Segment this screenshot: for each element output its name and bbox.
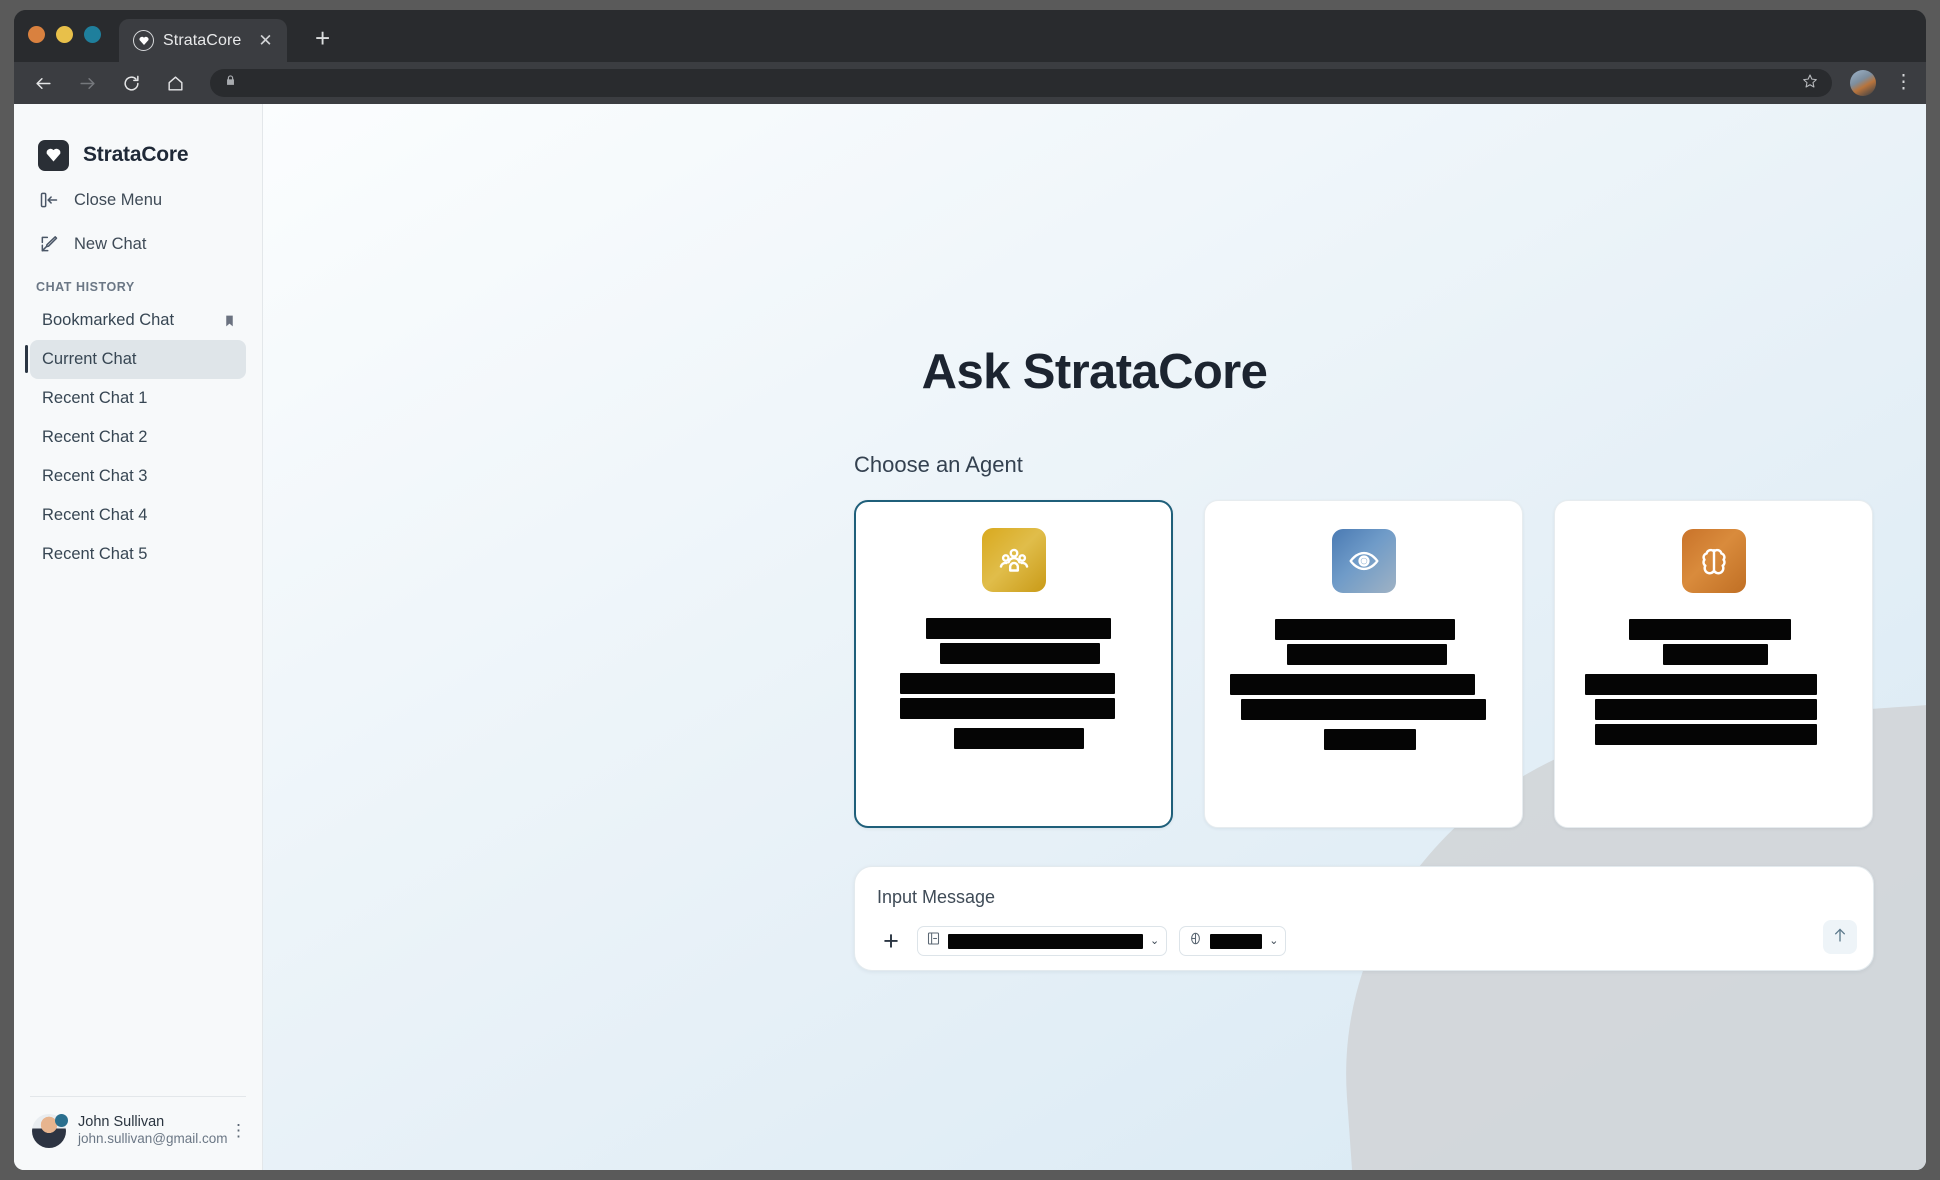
message-composer[interactable]: Input Message + ⌄ <box>854 866 1874 971</box>
source-selector-dropdown[interactable]: ⌄ <box>917 926 1167 956</box>
sidebar: StrataCore Close Menu New Chat CHAT HIST… <box>14 104 263 1170</box>
redacted-line <box>926 618 1111 639</box>
chat-item-label: Recent Chat 3 <box>42 467 147 486</box>
chat-history-heading: CHAT HISTORY <box>14 266 262 301</box>
chat-item-label: Recent Chat 1 <box>42 389 147 408</box>
chat-item-label: Bookmarked Chat <box>42 311 174 330</box>
chevron-down-icon[interactable]: ⌄ <box>1269 936 1278 947</box>
chat-item-recent-4[interactable]: Recent Chat 4 <box>30 496 246 535</box>
heart-logo-icon <box>38 140 69 171</box>
agent-card-list <box>854 500 1874 828</box>
page-title: Ask StrataCore <box>263 104 1926 400</box>
redacted-line <box>1230 674 1475 695</box>
user-name: John Sullivan <box>78 1113 218 1131</box>
composer-toolbar: + ⌄ ⌄ <box>877 926 1851 956</box>
panel-collapse-icon <box>38 189 60 211</box>
redacted-line <box>900 673 1115 694</box>
redacted-line <box>1241 699 1486 720</box>
agent-text-redacted <box>1205 619 1522 750</box>
choose-agent-label: Choose an Agent <box>854 452 1874 478</box>
brand-name: StrataCore <box>83 143 188 167</box>
user-profile-block[interactable]: John Sullivan john.sullivan@gmail.com ⋮ <box>30 1096 246 1170</box>
address-bar[interactable] <box>210 69 1832 97</box>
user-email: john.sullivan@gmail.com <box>78 1131 218 1148</box>
chat-item-recent-2[interactable]: Recent Chat 2 <box>30 418 246 457</box>
chat-item-recent-5[interactable]: Recent Chat 5 <box>30 535 246 574</box>
browser-tab[interactable]: StrataCore ✕ <box>119 19 287 62</box>
add-attachment-button[interactable]: + <box>877 928 905 955</box>
redacted-line <box>1324 729 1416 750</box>
agent-chooser: Choose an Agent <box>854 400 1874 828</box>
browser-toolbar: ⋮ <box>14 62 1926 104</box>
browser-tab-title: StrataCore <box>163 32 241 50</box>
page-content: StrataCore Close Menu New Chat CHAT HIST… <box>14 104 1926 1170</box>
user-menu-icon[interactable]: ⋮ <box>230 1126 244 1135</box>
main-area: Ask StrataCore Choose an Agent <box>263 104 1926 1170</box>
home-icon[interactable] <box>162 70 188 96</box>
chat-item-label: Recent Chat 5 <box>42 545 147 564</box>
reload-icon[interactable] <box>118 70 144 96</box>
book-icon <box>926 931 941 951</box>
redacted-value <box>948 934 1143 949</box>
brand: StrataCore <box>14 104 262 178</box>
users-group-icon <box>982 528 1046 592</box>
agent-text-redacted <box>1555 619 1872 745</box>
close-menu-button[interactable]: Close Menu <box>14 178 262 222</box>
redacted-line <box>1663 644 1768 665</box>
new-chat-label: New Chat <box>74 235 146 254</box>
window-traffic-lights <box>28 10 101 62</box>
brain-icon <box>1682 529 1746 593</box>
bookmark-icon[interactable] <box>223 313 236 329</box>
new-tab-button[interactable]: + <box>309 24 337 52</box>
avatar <box>32 1114 66 1148</box>
edit-square-icon <box>38 233 60 255</box>
forward-icon[interactable] <box>74 70 100 96</box>
new-chat-button[interactable]: New Chat <box>14 222 262 266</box>
chat-item-bookmarked[interactable]: Bookmarked Chat <box>30 301 246 340</box>
redacted-line <box>1595 724 1817 745</box>
redacted-value <box>1210 934 1262 949</box>
redacted-line <box>1287 644 1447 665</box>
chat-item-recent-1[interactable]: Recent Chat 1 <box>30 379 246 418</box>
browser-profile-avatar[interactable] <box>1850 70 1876 96</box>
browser-menu-icon[interactable]: ⋮ <box>1894 77 1910 88</box>
heart-circle-icon <box>133 30 154 51</box>
model-selector-dropdown[interactable]: ⌄ <box>1179 926 1286 956</box>
window-maximize-button[interactable] <box>84 26 101 43</box>
bookmark-star-icon[interactable] <box>1802 73 1818 94</box>
agent-card-vision[interactable] <box>1204 500 1523 828</box>
redacted-line <box>940 643 1100 664</box>
send-button[interactable] <box>1823 920 1857 954</box>
window-close-button[interactable] <box>28 26 45 43</box>
chat-item-recent-3[interactable]: Recent Chat 3 <box>30 457 246 496</box>
browser-tab-strip: StrataCore ✕ + <box>14 10 1926 62</box>
chat-item-label: Recent Chat 2 <box>42 428 147 447</box>
agent-card-users[interactable] <box>854 500 1173 828</box>
chat-item-label: Current Chat <box>42 350 136 369</box>
close-icon[interactable]: ✕ <box>258 32 272 49</box>
agent-text-redacted <box>856 618 1171 749</box>
redacted-line <box>1275 619 1455 640</box>
arrow-up-icon <box>1831 926 1849 949</box>
redacted-line <box>954 728 1084 749</box>
back-icon[interactable] <box>30 70 56 96</box>
browser-window: StrataCore ✕ + ⋮ <box>14 10 1926 1170</box>
lock-icon <box>224 74 237 92</box>
close-menu-label: Close Menu <box>74 191 162 210</box>
window-minimize-button[interactable] <box>56 26 73 43</box>
chat-item-label: Recent Chat 4 <box>42 506 147 525</box>
agent-card-reasoning[interactable] <box>1554 500 1873 828</box>
chevron-down-icon[interactable]: ⌄ <box>1150 936 1159 947</box>
brain-circle-icon <box>1188 931 1203 951</box>
message-input[interactable]: Input Message <box>877 887 1851 908</box>
redacted-line <box>1629 619 1791 640</box>
redacted-line <box>1595 699 1817 720</box>
redacted-line <box>900 698 1115 719</box>
chat-item-current[interactable]: Current Chat <box>30 340 246 379</box>
eye-icon <box>1332 529 1396 593</box>
redacted-line <box>1585 674 1817 695</box>
sidebar-spacer <box>14 574 262 1096</box>
status-badge <box>55 1114 68 1127</box>
